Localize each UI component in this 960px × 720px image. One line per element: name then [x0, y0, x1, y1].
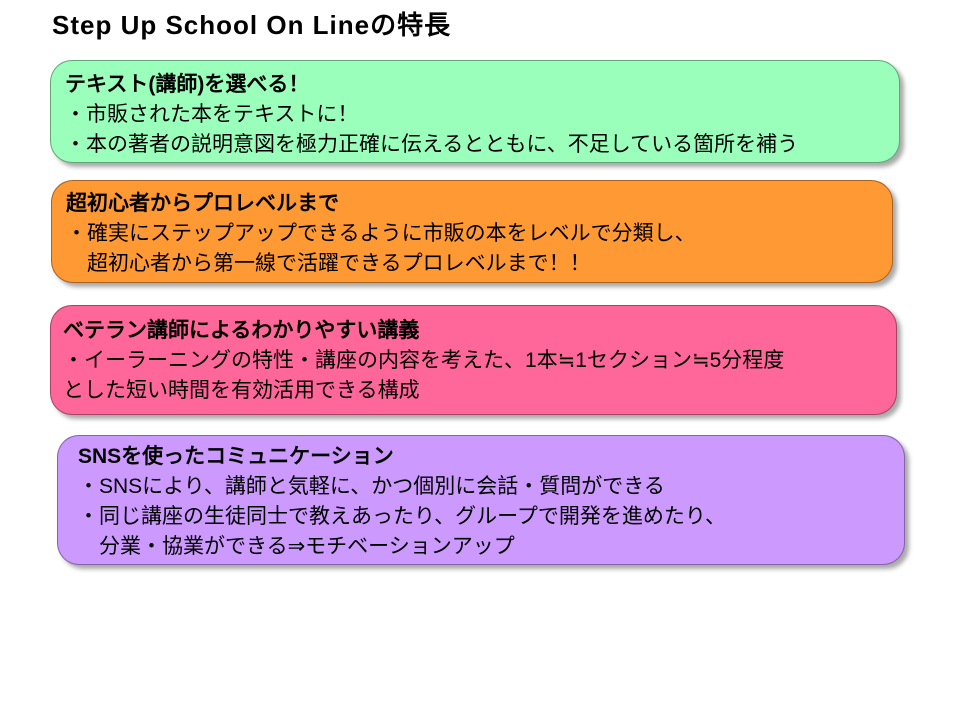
feature-box-levels[interactable]: 超初心者からプロレベルまで ・確実にステップアップできるように市販の本をレベルで…: [51, 180, 893, 283]
feature-heading: テキスト(講師)を選べる！: [65, 70, 899, 100]
feature-box-sns-body: SNSを使ったコミュニケーション ・SNSにより、講師と気軽に、かつ個別に会話・…: [58, 436, 904, 564]
feature-bullet: ・確実にステップアップできるように市販の本をレベルで分類し、: [66, 219, 892, 249]
feature-box-lectures[interactable]: ベテラン講師によるわかりやすい講義 ・イーラーニングの特性・講座の内容を考えた、…: [50, 305, 897, 415]
feature-bullet: ・イーラーニングの特性・講座の内容を考えた、1本≒1セクション≒5分程度: [63, 346, 896, 376]
feature-box-levels-body: 超初心者からプロレベルまで ・確実にステップアップできるように市販の本をレベルで…: [52, 181, 892, 282]
feature-heading: SNSを使ったコミュニケーション: [78, 442, 904, 472]
feature-bullet: ・本の著者の説明意図を極力正確に伝えるとともに、不足している箇所を補う: [65, 130, 899, 160]
feature-heading: ベテラン講師によるわかりやすい講義: [63, 316, 896, 346]
slide-canvas: Step Up School On Lineの特長 テキスト(講師)を選べる！ …: [0, 0, 960, 720]
feature-box-text-choice[interactable]: テキスト(講師)を選べる！ ・市販された本をテキストに！ ・本の著者の説明意図を…: [50, 60, 900, 163]
feature-heading: 超初心者からプロレベルまで: [66, 189, 892, 219]
feature-box-text-choice-body: テキスト(講師)を選べる！ ・市販された本をテキストに！ ・本の著者の説明意図を…: [51, 61, 899, 162]
feature-bullet: ・SNSにより、講師と気軽に、かつ個別に会話・質問ができる: [78, 472, 904, 502]
feature-bullet-continuation: とした短い時間を有効活用できる構成: [63, 376, 896, 406]
page-title: Step Up School On Lineの特長: [52, 8, 451, 42]
feature-bullet: ・市販された本をテキストに！: [65, 100, 899, 130]
feature-bullet: ・同じ講座の生徒同士で教えあったり、グループで開発を進めたり、: [78, 502, 904, 532]
feature-box-lectures-body: ベテラン講師によるわかりやすい講義 ・イーラーニングの特性・講座の内容を考えた、…: [51, 306, 896, 414]
feature-bullet-continuation: 超初心者から第一線で活躍できるプロレベルまで！！: [66, 249, 892, 279]
feature-bullet-continuation: 分業・協業ができる⇒モチベーションアップ: [78, 532, 904, 562]
feature-box-sns[interactable]: SNSを使ったコミュニケーション ・SNSにより、講師と気軽に、かつ個別に会話・…: [57, 435, 905, 565]
